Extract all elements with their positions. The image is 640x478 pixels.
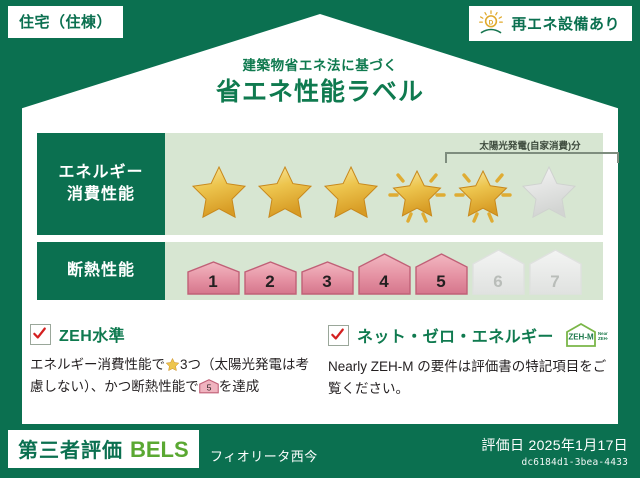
ratings-panel: エネルギー 消費性能 太陽光発電(自家消費)分	[37, 133, 603, 307]
zeh-desc-post: を達成	[219, 379, 260, 394]
zeh-standard-title: ZEH水準	[59, 322, 125, 346]
criterion-net-zero-energy: ネット・ゼロ・エネルギー ZEH-M Nearly ZEH-M Nearly Z…	[328, 322, 608, 400]
energy-performance-label: エネルギー 消費性能	[37, 133, 165, 235]
dwelling-type-tag: 住宅（住棟）	[8, 6, 123, 38]
insulation-level-7-number: 7	[528, 272, 583, 292]
svg-text:ZEH-M: ZEH-M	[598, 336, 608, 341]
zeh-m-nearly-logo: ZEH-M Nearly ZEH-M	[564, 322, 608, 348]
house-level-icon: 5	[199, 379, 219, 394]
evaluation-date: 評価日 2025年1月17日	[481, 435, 628, 455]
insulation-level-7: 7	[528, 248, 583, 296]
solar-sun-icon: D	[477, 10, 505, 36]
label-title-block: 建築物省エネ法に基づく 省エネ性能ラベル	[0, 58, 640, 109]
energy-performance-row: エネルギー 消費性能 太陽光発電(自家消費)分	[37, 133, 603, 235]
zeh-standard-header: ZEH水準	[30, 322, 310, 346]
criteria-columns: ZEH水準 エネルギー消費性能で3つ（太陽光発電は考慮しない）、かつ断熱性能で5…	[30, 322, 608, 400]
footer-bar: 第三者評価 BELS フィオリータ西今 評価日 2025年1月17日 dc618…	[0, 424, 640, 478]
zeh-standard-checkbox[interactable]	[30, 324, 51, 345]
energy-label-line1: エネルギー	[58, 162, 143, 184]
evaluation-info: 評価日 2025年1月17日 dc6184d1-3bea-4433	[481, 435, 628, 468]
star-icon	[165, 357, 180, 372]
evaluation-date-label: 評価日	[481, 437, 524, 453]
title-main: 省エネ性能ラベル	[0, 76, 640, 109]
insulation-level-2-number: 2	[243, 272, 298, 292]
energy-label-line2: 消費性能	[67, 184, 135, 206]
third-party-eval-label: 第三者評価	[18, 434, 123, 463]
star-rating	[165, 155, 603, 229]
bels-logo-text: BELS	[130, 437, 189, 463]
star-2-filled	[254, 161, 316, 223]
star-6-empty	[518, 161, 580, 223]
property-name: フィオリータ西今	[210, 446, 318, 465]
zeh-desc-pre: エネルギー消費性能で	[30, 357, 165, 372]
energy-rating-body: 太陽光発電(自家消費)分	[165, 133, 603, 235]
insulation-level-1: 1	[186, 260, 241, 296]
insulation-label-text: 断熱性能	[67, 260, 135, 282]
insulation-level-4: 4	[357, 252, 412, 296]
insulation-performance-label: 断熱性能	[37, 242, 165, 300]
insulation-performance-row: 断熱性能	[37, 242, 603, 300]
insulation-level-3: 3	[300, 260, 355, 296]
net-zero-energy-header: ネット・ゼロ・エネルギー ZEH-M Nearly ZEH-M	[328, 322, 608, 348]
insulation-level-6-number: 6	[471, 272, 526, 292]
net-zero-energy-title: ネット・ゼロ・エネルギー	[357, 323, 554, 347]
insulation-level-6: 6	[471, 248, 526, 296]
energy-label-card: 住宅（住棟） D 再エネ設備あり 建築物省エネ法に基づく	[0, 0, 640, 478]
net-zero-energy-checkbox[interactable]	[328, 325, 349, 346]
solar-generation-note: 太陽光発電(自家消費)分	[440, 138, 620, 152]
bels-certification-box: 第三者評価 BELS	[8, 430, 199, 468]
star-5-filled-solar	[452, 161, 514, 223]
svg-text:ZEH-M: ZEH-M	[568, 333, 594, 342]
svg-text:D: D	[489, 19, 494, 26]
star-3-filled	[320, 161, 382, 223]
insulation-level-scale: 1 2 3	[165, 248, 603, 296]
insulation-level-5: 5	[414, 252, 469, 296]
svg-text:5: 5	[206, 383, 211, 393]
renewable-badge-label: 再エネ設備あり	[511, 13, 620, 34]
insulation-level-2: 2	[243, 260, 298, 296]
check-icon	[32, 326, 47, 341]
evaluation-id: dc6184d1-3bea-4433	[481, 457, 628, 468]
insulation-rating-body: 1 2 3	[165, 242, 603, 300]
renewable-equipment-badge: D 再エネ設備あり	[469, 6, 632, 41]
insulation-level-1-number: 1	[186, 272, 241, 292]
star-4-filled-solar	[386, 161, 448, 223]
insulation-level-4-number: 4	[357, 272, 412, 292]
title-subtitle: 建築物省エネ法に基づく	[0, 58, 640, 74]
check-icon	[330, 327, 345, 342]
criterion-zeh-standard: ZEH水準 エネルギー消費性能で3つ（太陽光発電は考慮しない）、かつ断熱性能で5…	[30, 322, 310, 400]
star-1-filled	[188, 161, 250, 223]
insulation-level-5-number: 5	[414, 272, 469, 292]
net-zero-energy-description: Nearly ZEH-M の要件は評価書の特記項目をご覧ください。	[328, 356, 608, 400]
zeh-standard-description: エネルギー消費性能で3つ（太陽光発電は考慮しない）、かつ断熱性能で5を達成	[30, 354, 310, 398]
evaluation-date-value: 2025年1月17日	[528, 437, 628, 453]
insulation-level-3-number: 3	[300, 272, 355, 292]
